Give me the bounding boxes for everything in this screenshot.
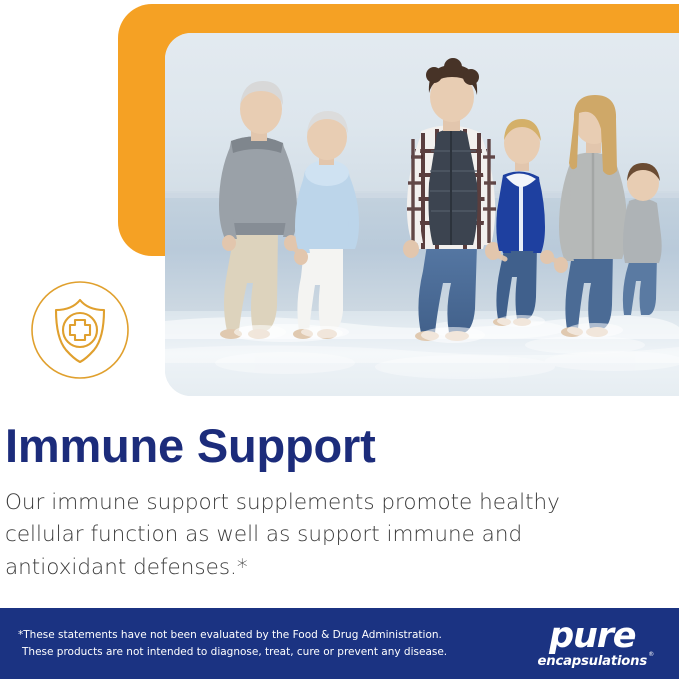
registered-trademark-icon: ® <box>648 652 654 658</box>
disclaimer-line-2: These products are not intended to diagn… <box>18 644 447 661</box>
shield-badge <box>30 280 130 380</box>
description-line-2: cellular function as well as support imm… <box>5 519 645 551</box>
brand-name: pure <box>538 619 647 654</box>
shield-medical-cross-icon <box>30 280 130 380</box>
page-title: Immune Support <box>5 418 376 473</box>
page-description: Our immune support supplements promote h… <box>5 487 645 584</box>
description-line-1: Our immune support supplements promote h… <box>5 487 645 519</box>
brand-subtitle: encapsulations® <box>538 655 647 668</box>
description-line-3: antioxidant defenses.* <box>5 552 645 584</box>
disclaimer-line-1: *These statements have not been evaluate… <box>18 627 447 644</box>
hero-photo <box>165 33 679 396</box>
fda-disclaimer: *These statements have not been evaluate… <box>0 627 447 661</box>
brand-logo: pure encapsulations® <box>538 619 679 668</box>
footer-bar: *These statements have not been evaluate… <box>0 608 679 679</box>
beach-family-illustration <box>165 33 679 396</box>
brand-subtitle-text: encapsulations <box>538 654 647 669</box>
